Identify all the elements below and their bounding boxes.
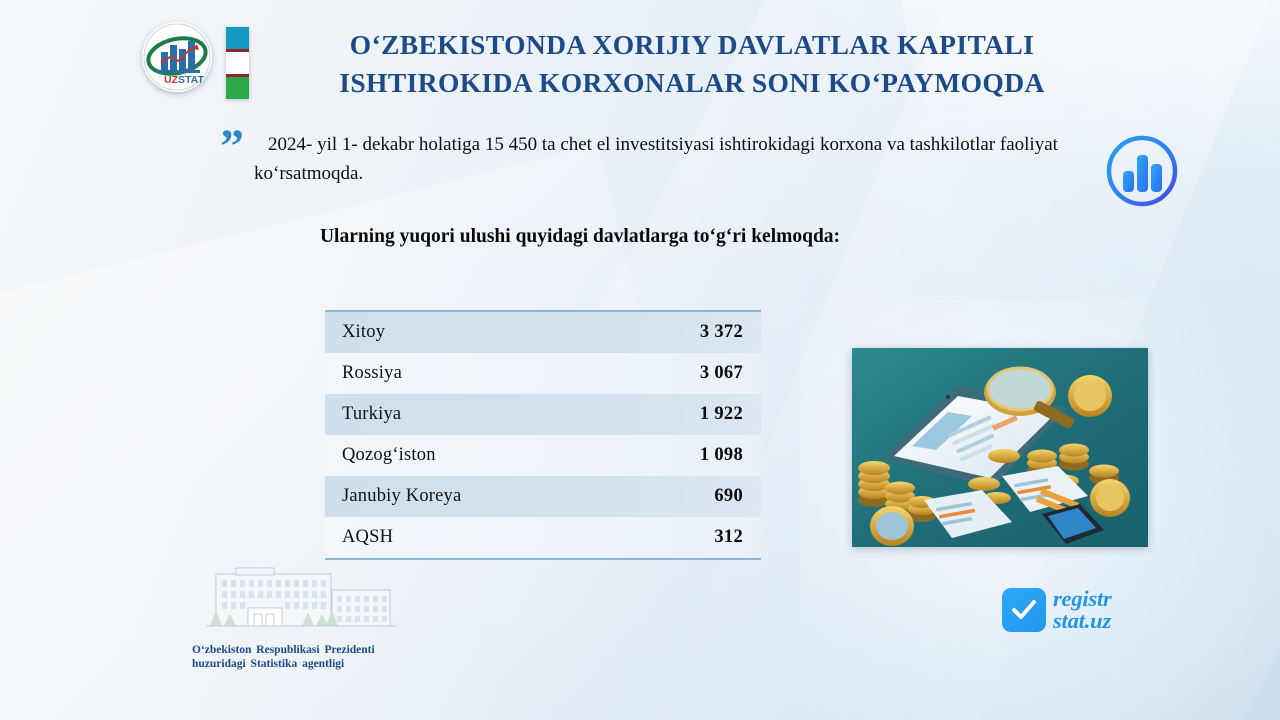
registr-wordmark: registr stat.uz <box>1053 588 1112 632</box>
agency-caption: O‘zbekiston Respublikasi Prezidenti huzu… <box>192 643 422 671</box>
agency-caption-line-2: huzuridagi Statistika agentligi <box>192 657 422 671</box>
title-line-1: O‘ZBEKISTONDA XORIJIY DAVLATLAR KAPITALI <box>272 26 1112 64</box>
row-country: Xitoy <box>342 322 700 343</box>
subheading: Ularning yuqori ulushi quyidagi davlatla… <box>230 226 930 248</box>
table-row: Qozog‘iston 1 098 <box>325 435 761 476</box>
table-row: AQSH 312 <box>325 517 761 558</box>
uzbekistan-flag-icon <box>226 27 249 99</box>
row-country: AQSH <box>342 527 714 548</box>
registr-word-2: stat.uz <box>1053 610 1112 632</box>
row-value: 312 <box>714 527 743 548</box>
flag-band-white <box>226 52 249 74</box>
row-country: Janubiy Koreya <box>342 486 714 507</box>
header: UZ STAT O‘ZBEKISTONDA XORIJIY DAVLATLAR … <box>0 0 1280 120</box>
quote-mark-icon: ” <box>220 132 244 162</box>
table-row: Xitoy 3 372 <box>325 312 761 353</box>
flag-band-green <box>226 77 249 99</box>
row-value: 3 372 <box>700 322 743 343</box>
svg-text:STAT: STAT <box>178 74 204 86</box>
agency-block: O‘zbekiston Respublikasi Prezidenti huzu… <box>192 560 422 671</box>
svg-text:UZ: UZ <box>164 74 179 86</box>
table-row: Janubiy Koreya 690 <box>325 476 761 517</box>
government-building-icon <box>198 560 403 638</box>
bar-chart-circle-svg <box>1104 133 1180 209</box>
checkmark-svg <box>1011 599 1037 621</box>
uzstat-logo: UZ STAT <box>142 22 212 92</box>
finance-illustration-photo <box>852 348 1148 547</box>
table-row: Turkiya 1 922 <box>325 394 761 435</box>
title-line-2: ISHTIROKIDA KORXONALAR SONI KO‘PAYMOQDA <box>272 64 1112 102</box>
country-table: Xitoy 3 372 Rossiya 3 067 Turkiya 1 922 … <box>325 310 761 560</box>
finance-illustration-svg <box>852 348 1148 547</box>
registrstat-logo[interactable]: registr stat.uz <box>1002 588 1112 632</box>
agency-caption-line-1: O‘zbekiston Respublikasi Prezidenti <box>192 643 422 657</box>
row-value: 690 <box>714 486 743 507</box>
row-country: Turkiya <box>342 404 700 425</box>
row-value: 1 922 <box>700 404 743 425</box>
row-value: 3 067 <box>700 363 743 384</box>
flag-band-blue <box>226 27 249 49</box>
row-value: 1 098 <box>700 445 743 466</box>
row-country: Rossiya <box>342 363 700 384</box>
table-row: Rossiya 3 067 <box>325 353 761 394</box>
registr-word-1: registr <box>1053 588 1112 610</box>
checkmark-icon <box>1002 588 1046 632</box>
page-title: O‘ZBEKISTONDA XORIJIY DAVLATLAR KAPITALI… <box>272 26 1112 102</box>
intro-paragraph-block: ” 2024- yil 1- dekabr holatiga 15 450 ta… <box>220 130 1100 188</box>
intro-text: 2024- yil 1- dekabr holatiga 15 450 ta c… <box>220 130 1100 188</box>
row-country: Qozog‘iston <box>342 445 700 466</box>
uzstat-logo-icon: UZ STAT <box>142 22 212 92</box>
bar-chart-circle-icon <box>1104 133 1180 209</box>
